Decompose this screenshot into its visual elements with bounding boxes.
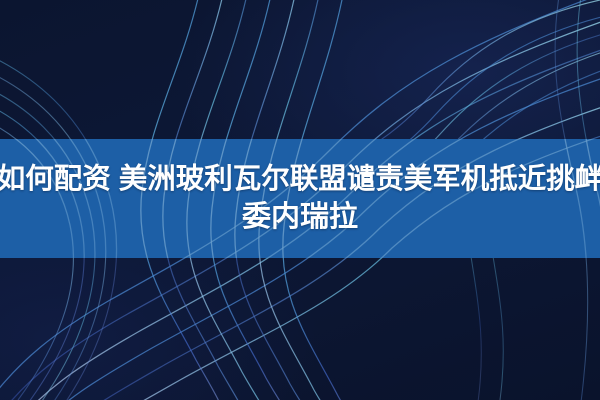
headline-band: 如何配资 美洲玻利瓦尔联盟谴责美军机抵近挑衅 委内瑞拉 xyxy=(0,139,600,258)
news-banner: 如何配资 美洲玻利瓦尔联盟谴责美军机抵近挑衅 委内瑞拉 xyxy=(0,0,600,400)
headline-line-1: 如何配资 美洲玻利瓦尔联盟谴责美军机抵近挑衅 xyxy=(0,163,600,197)
headline-text-block: 如何配资 美洲玻利瓦尔联盟谴责美军机抵近挑衅 委内瑞拉 xyxy=(0,139,600,258)
headline-line-2: 委内瑞拉 xyxy=(242,200,358,234)
